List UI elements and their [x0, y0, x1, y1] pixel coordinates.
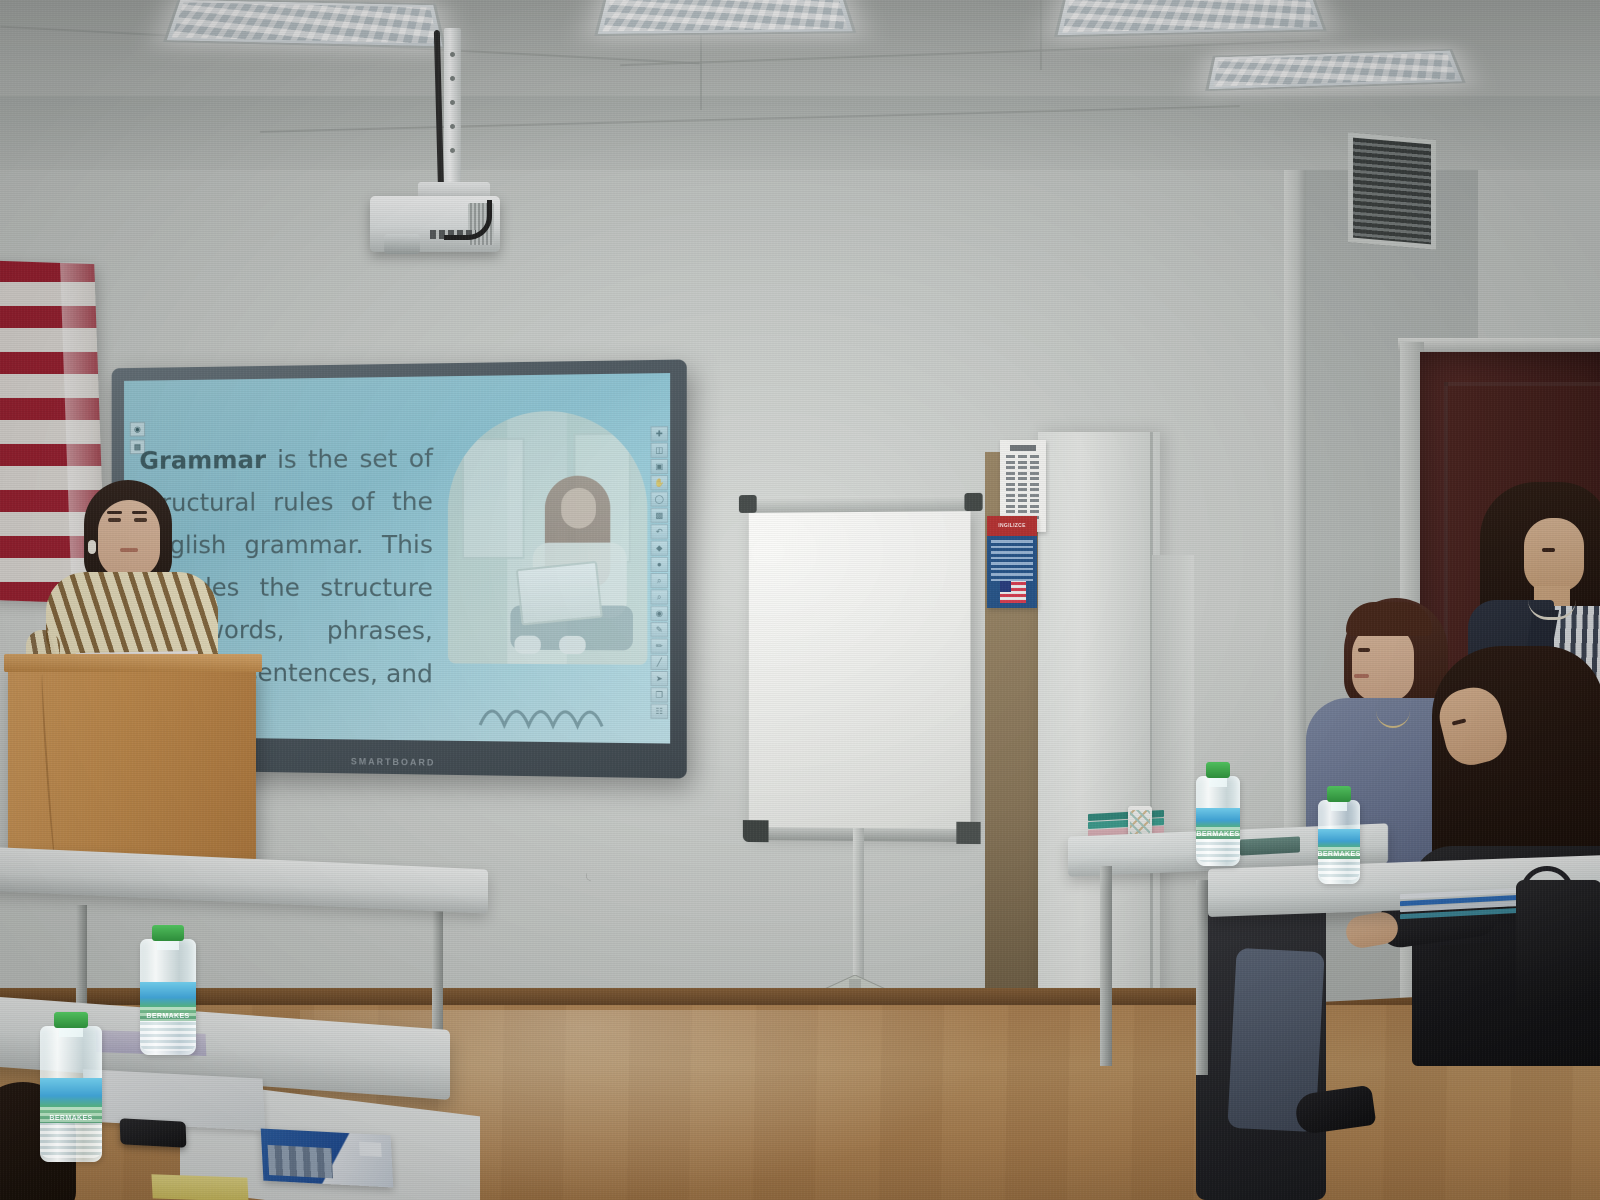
projector-mount-pole — [444, 28, 461, 188]
poster-header-text: INGILIZCE — [998, 523, 1025, 529]
spotlight-icon[interactable]: ◉ — [650, 606, 668, 621]
slide-photo — [448, 410, 647, 665]
front-left-bottle: BERMAKES — [40, 1012, 102, 1162]
table-leg — [1196, 880, 1208, 1075]
lectern-grain — [39, 674, 58, 864]
fill-icon[interactable]: ● — [650, 557, 668, 572]
select-icon[interactable]: ◉ — [130, 422, 145, 437]
right-table-bottle: BERMAKES — [1196, 762, 1240, 866]
shape-circle-icon[interactable]: ◯ — [650, 491, 668, 506]
front-center-bottle: BERMAKES — [140, 925, 196, 1055]
ceiling-projector — [370, 196, 500, 252]
flipchart-top-rail — [743, 495, 975, 513]
table-leg — [1100, 866, 1112, 1066]
bottle-cap-icon — [152, 925, 183, 941]
far-right-bottle: BERMAKES — [1318, 786, 1360, 884]
flipchart-corner-right — [956, 822, 980, 844]
classroom-scene: ◉ ▦ Grammar is the set of structural rul… — [0, 0, 1600, 1200]
move-icon[interactable]: ✚ — [650, 426, 668, 441]
presenter-earring — [88, 540, 96, 554]
flipchart-post — [853, 828, 864, 988]
bottle-cap-icon — [1327, 786, 1351, 802]
smartboard-brand-label: SMARTBOARD — [351, 756, 436, 767]
us-flag-graphic-icon — [1000, 581, 1026, 603]
smartboard-power-cable — [586, 770, 591, 985]
curve-icon[interactable]: ➤ — [650, 671, 668, 686]
flipchart-corner-left — [743, 820, 769, 842]
bottle-cap-icon — [54, 1012, 89, 1028]
line-icon[interactable]: ╱ — [650, 655, 668, 670]
lectern-top — [4, 654, 262, 672]
zoom-out-icon[interactable]: ⌕ — [650, 589, 668, 604]
pen-icon[interactable]: ✏ — [650, 638, 668, 653]
ceiling-grid-line — [1040, 0, 1042, 70]
hand-icon[interactable]: ✋ — [650, 475, 668, 490]
black-handbag — [1516, 880, 1600, 1010]
ceiling-light-panel — [163, 0, 446, 48]
book-stack — [1088, 810, 1164, 836]
black-smartphone[interactable] — [120, 1118, 187, 1148]
person-fringe — [1346, 602, 1432, 636]
ceiling-light-panel — [594, 0, 856, 36]
keyboard-icon[interactable]: ◫ — [650, 442, 668, 457]
poster-body-lines — [987, 536, 1037, 581]
person-face — [1524, 518, 1584, 592]
zoom-in-icon[interactable]: ⌕ — [650, 573, 668, 588]
ceiling-light-panel — [1054, 0, 1327, 37]
flipchart-clip-right-icon[interactable] — [964, 493, 982, 511]
presenter-person — [22, 480, 232, 680]
poster-header: INGILIZCE — [987, 516, 1037, 536]
yellow-paper-slip — [151, 1174, 248, 1200]
highlighter-icon[interactable]: ✎ — [650, 622, 668, 637]
capture-icon[interactable]: ☷ — [650, 704, 668, 719]
blue-information-brochure — [261, 1128, 394, 1187]
stamp-icon[interactable]: ▩ — [650, 508, 668, 523]
bottle-cap-icon — [1206, 762, 1231, 778]
flipchart-board[interactable] — [749, 507, 971, 834]
door-header — [1398, 338, 1600, 352]
smartboard-toolbar[interactable]: ✚ ◫ ▣ ✋ ◯ ▩ ↶ ◆ ● ⌕ ⌕ ◉ ✎ ✏ ╱ ➤ ❒ ☷ — [650, 426, 668, 719]
wall-poster: INGILIZCE — [987, 516, 1037, 608]
wooden-lectern — [8, 668, 256, 868]
cabinet-inner-panel — [1152, 555, 1194, 845]
projector-lens-icon — [384, 234, 420, 254]
slide-lead-word: Grammar — [139, 445, 266, 475]
eraser-icon[interactable]: ◆ — [650, 540, 668, 555]
flipchart-clip-left-icon[interactable] — [739, 495, 757, 513]
air-vent-grille-icon — [1348, 132, 1436, 250]
undo-icon[interactable]: ↶ — [650, 524, 668, 539]
green-notebook — [1240, 836, 1300, 855]
black-remote — [1440, 943, 1496, 962]
table-leg — [432, 895, 443, 1045]
screen-icon[interactable]: ▣ — [650, 459, 668, 474]
slide-squiggle-decoration — [478, 695, 631, 733]
white-storage-cabinet[interactable] — [1038, 432, 1160, 1047]
pointer-icon[interactable]: ❒ — [650, 687, 668, 702]
